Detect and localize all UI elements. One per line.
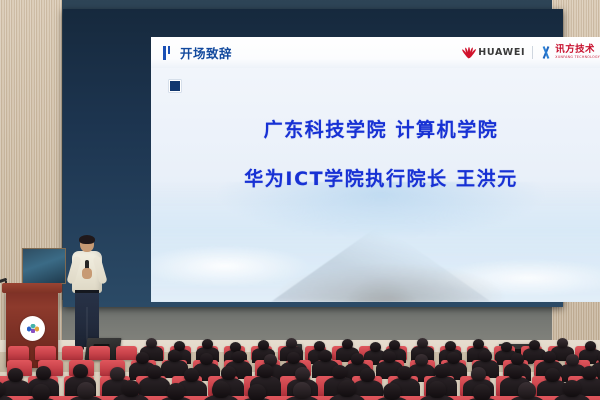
xunfang-logo: 讯方技术 XUNFANG TECHNOLOGY <box>540 45 600 59</box>
presenter-belt <box>75 290 99 293</box>
audience-member-head <box>202 339 213 349</box>
audience-member-head <box>136 352 149 364</box>
square-bullet-icon <box>169 80 181 92</box>
audience-member-head <box>445 341 456 351</box>
audience-member-head <box>32 384 50 400</box>
audience-member-head <box>471 367 486 381</box>
audience-member-head <box>73 364 88 378</box>
audience-member-head <box>200 353 213 365</box>
audience-member-head <box>585 341 596 351</box>
slide-title: 开场致辞 <box>180 43 232 62</box>
audience-member-head <box>258 364 273 378</box>
audience-member-head <box>248 384 266 400</box>
audience-member-head <box>543 351 556 363</box>
audience-member-head <box>212 381 230 398</box>
audience-member-head <box>383 351 396 363</box>
audience-member-head <box>184 368 199 382</box>
audience-member-head <box>582 366 597 380</box>
presenter <box>70 236 104 352</box>
audience-member-head <box>110 367 125 381</box>
audience-member-head <box>473 339 484 349</box>
slide-background-photo <box>151 182 600 302</box>
audience-member-head <box>566 354 579 366</box>
auditorium-seat <box>62 346 83 360</box>
audience-member-head <box>557 338 568 348</box>
huawei-wordmark: HUAWEI <box>478 47 525 58</box>
slide-line-2: 华为ICT学院执行院长 王洪元 <box>151 164 600 191</box>
presentation-slide: 开场致辞 HUAWEI 讯方技术 XUNFANG TECHNOLOGY <box>151 37 600 302</box>
huawei-logo: HUAWEI <box>462 47 525 58</box>
auditorium-seat <box>89 346 110 360</box>
audience-member-head <box>518 382 536 399</box>
audience-member-head <box>397 366 412 380</box>
side-display-monitor <box>22 248 66 284</box>
audience-member-head <box>415 354 428 366</box>
audience-member-head <box>295 367 310 381</box>
audience-member-head <box>479 350 492 362</box>
auditorium-seat <box>116 346 137 360</box>
podium-top <box>2 283 62 293</box>
slide-line-1: 广东科技学院 计算机学院 <box>151 115 600 142</box>
audience-member-head <box>511 353 524 365</box>
xunfang-wordmark: 讯方技术 XUNFANG TECHNOLOGY <box>555 45 600 59</box>
audience-member-head <box>351 353 364 365</box>
audience-member-head <box>8 368 23 382</box>
audience-member-head <box>232 351 245 363</box>
audience-member-head <box>258 340 269 350</box>
audience-member-head <box>122 380 140 397</box>
audience-member-head <box>428 381 446 398</box>
audience-member-head <box>221 366 236 380</box>
xunfang-x-icon <box>540 46 552 59</box>
audience-area <box>0 336 600 400</box>
screenshot-root: 开场致辞 HUAWEI 讯方技术 XUNFANG TECHNOLOGY <box>0 0 600 400</box>
xunfang-name-en: XUNFANG TECHNOLOGY <box>555 56 600 59</box>
quote-bar-icon <box>163 46 172 60</box>
slide-header-bar: 开场致辞 HUAWEI 讯方技术 XUNFANG TECHNOLOGY <box>151 37 600 68</box>
logo-divider <box>532 46 533 59</box>
presenter-hands <box>82 268 92 279</box>
audience-member-head <box>529 340 540 350</box>
audience-member-head <box>287 352 300 364</box>
audience-member-head <box>417 338 428 348</box>
audience-member-head <box>545 368 560 382</box>
audience-member-head <box>146 338 157 348</box>
slide-logo-group: HUAWEI 讯方技术 XUNFANG TECHNOLOGY <box>462 45 600 59</box>
audience-member-head <box>360 368 375 382</box>
audience-member-head <box>77 382 95 399</box>
audience-member-head <box>342 339 353 349</box>
audience-member-head <box>167 383 185 400</box>
huawei-flower-icon <box>462 47 475 58</box>
audience-member-head <box>389 340 400 350</box>
audience-member-head <box>383 383 401 400</box>
audience-member-head <box>447 352 460 364</box>
audience-member-head <box>168 350 181 362</box>
audience-member-head <box>147 365 162 379</box>
audience-member-head <box>332 365 347 379</box>
audience-member-head <box>36 366 51 380</box>
audience-member-head <box>370 342 381 352</box>
xunfang-name-cn: 讯方技术 <box>555 45 600 55</box>
audience-member-head <box>286 338 297 348</box>
audience-member-head <box>293 382 311 399</box>
audience-member-head <box>473 384 491 400</box>
audience-member-head <box>508 365 523 379</box>
audience-member <box>139 377 171 398</box>
audience-member-head <box>319 350 332 362</box>
audience-member-head <box>338 380 356 397</box>
audience-member-head <box>501 342 512 352</box>
auditorium-seat <box>8 346 29 360</box>
projection-screen-frame: 开场致辞 HUAWEI 讯方技术 XUNFANG TECHNOLOGY <box>63 9 563 307</box>
audience-member-head <box>563 380 581 397</box>
auditorium-seat <box>35 346 56 360</box>
presenter-hair <box>79 235 95 244</box>
slide-text-block: 广东科技学院 计算机学院 华为ICT学院执行院长 王洪元 <box>151 115 600 191</box>
audience-member-head <box>434 364 449 378</box>
